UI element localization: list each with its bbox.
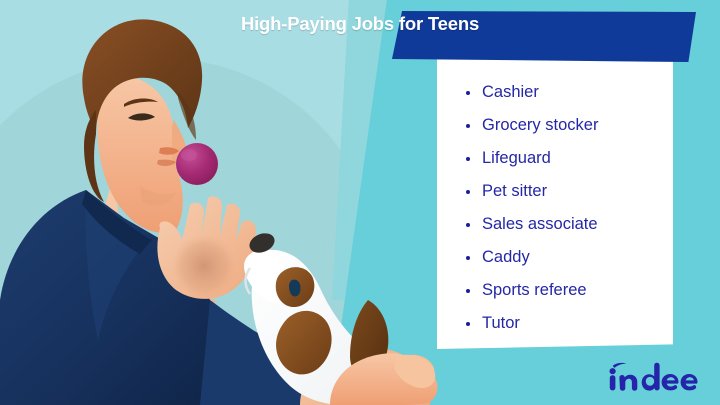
bullet-icon [466, 91, 470, 95]
list-item-label: Pet sitter [482, 182, 547, 200]
list-item-label: Sports referee [482, 281, 587, 299]
bullet-icon [466, 289, 470, 293]
list-item: Grocery stocker [460, 109, 675, 142]
infographic-canvas: Cashier Grocery stocker Lifeguard Pet si… [0, 0, 720, 405]
bullet-icon [466, 223, 470, 227]
list-item: Cashier [460, 76, 675, 109]
list-item-label: Lifeguard [482, 149, 551, 167]
list-item-label: Sales associate [482, 215, 598, 233]
page-title: High-Paying Jobs for Teens [0, 13, 720, 35]
list-item: Pet sitter [460, 175, 675, 208]
illustration-teen-with-dog [0, 0, 460, 405]
bullet-icon [466, 124, 470, 128]
jobs-list: Cashier Grocery stocker Lifeguard Pet si… [460, 76, 675, 340]
indeed-logo [607, 362, 699, 392]
list-item: Lifeguard [460, 142, 675, 175]
bullet-icon [466, 190, 470, 194]
list-item-label: Caddy [482, 248, 530, 266]
bullet-icon [466, 322, 470, 326]
list-item: Caddy [460, 241, 675, 274]
bullet-icon [466, 157, 470, 161]
list-item: Sales associate [460, 208, 675, 241]
indeed-wordmark-icon [607, 362, 699, 392]
list-item-label: Tutor [482, 314, 520, 332]
list-item-label: Grocery stocker [482, 116, 598, 134]
list-item: Tutor [460, 307, 675, 340]
bullet-icon [466, 256, 470, 260]
list-item: Sports referee [460, 274, 675, 307]
list-item-label: Cashier [482, 83, 539, 101]
